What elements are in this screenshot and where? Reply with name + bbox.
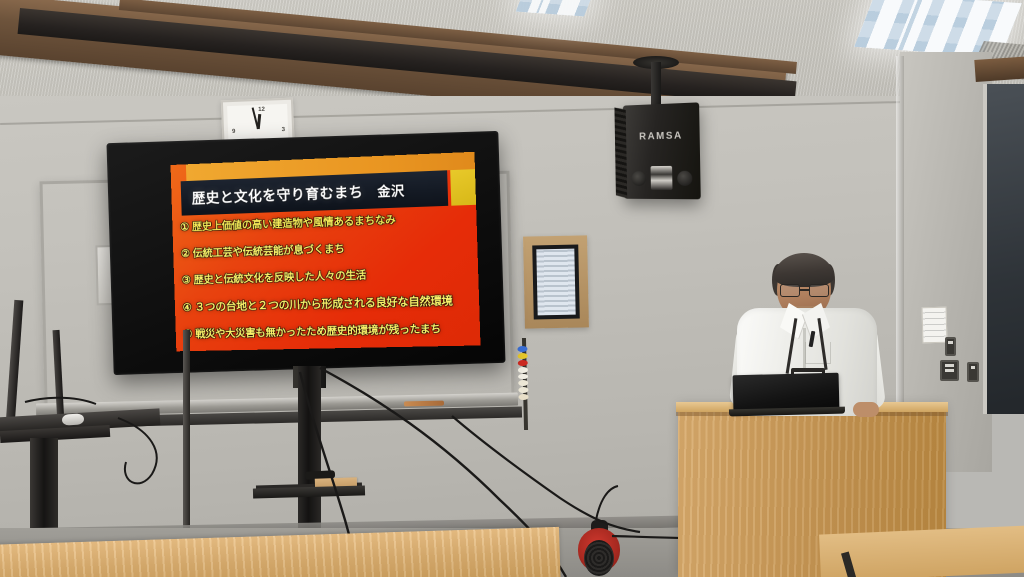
speaker-brand-label: RAMSA — [623, 130, 699, 143]
magnet-8[interactable] — [518, 394, 528, 400]
wall-notice-paper — [922, 307, 948, 344]
speaker-side-fins — [614, 107, 627, 198]
speaker-bolt-right — [677, 170, 692, 185]
speaker-horn — [651, 166, 673, 190]
speaker-bolt-left — [631, 171, 646, 186]
speaker-drivers — [631, 164, 692, 192]
slide-bullet-4: ④３つの台地と２つの川から形成される良好な自然環境 — [182, 292, 475, 315]
cable-reel — [578, 520, 620, 572]
light-switch-plate-1[interactable] — [945, 337, 956, 356]
small-window-frame — [532, 245, 580, 320]
power-outlet-plate[interactable] — [967, 362, 979, 382]
right-window — [983, 84, 1024, 414]
photo-scene: 12 3 6 9 RAMSA — [0, 0, 1024, 577]
slide-title-place: 金沢 — [377, 180, 405, 200]
small-window — [523, 235, 589, 328]
slide-title: 歴史と文化を守り育むまち — [191, 181, 363, 208]
magnet-1[interactable] — [517, 346, 527, 352]
slide: 歴史と文化を守り育むまち 金沢 ①歴史上価値の高い建造物や風情あるまちなみ②伝統… — [171, 152, 481, 352]
slide-bullet-2: ②伝統工芸や伝統芸能が息づくまち — [181, 237, 474, 261]
magnet-4[interactable] — [518, 367, 528, 373]
presenter-hair — [774, 253, 834, 287]
slide-bullet-number-3: ③ — [182, 274, 191, 286]
slide-bullet-number-1: ① — [180, 221, 189, 233]
display-screen: 歴史と文化を守り育むまち 金沢 ①歴史上価値の高い建造物や風情あるまちなみ②伝統… — [171, 152, 481, 352]
presentation-display: 歴史と文化を守り育むまち 金沢 ①歴史上価値の高い建造物や風情あるまちなみ②伝統… — [106, 131, 505, 375]
slide-bullet-text-1: 歴史上価値の高い建造物や風情あるまちなみ — [192, 212, 396, 234]
magnet-strip — [517, 346, 529, 400]
display-stand-column — [298, 366, 321, 546]
presenter-glasses — [779, 284, 830, 297]
window-header-trim — [974, 56, 1024, 82]
cable-reel-drum — [578, 528, 620, 572]
clock-number-12: 12 — [258, 107, 265, 113]
ceiling-speaker: RAMSA — [623, 102, 701, 199]
whiteboard-marker — [404, 401, 444, 407]
slide-bullet-text-3: 歴史と伝統文化を反映した人々の生活 — [193, 267, 366, 287]
clock-number-3: 3 — [282, 127, 286, 133]
slide-bullet-3: ③歴史と伝統文化を反映した人々の生活 — [182, 264, 475, 287]
speaker-mount-pole — [651, 62, 661, 108]
slide-bullet-list: ①歴史上価値の高い建造物や風情あるまちなみ②伝統工芸や伝統芸能が息づくまち③歴史… — [180, 207, 476, 347]
clock-hour-hand — [257, 114, 261, 129]
magnet-5[interactable] — [518, 373, 528, 379]
magnet-6[interactable] — [518, 380, 528, 386]
light-switch-plate-2[interactable] — [940, 360, 959, 381]
cable-reel-cord — [584, 540, 614, 576]
magnet-3[interactable] — [518, 360, 528, 366]
slide-bullet-number-4: ④ — [183, 302, 192, 314]
slide-bullet-text-4: ３つの台地と２つの川から形成される良好な自然環境 — [194, 292, 453, 314]
clock-number-9: 9 — [232, 129, 236, 135]
slide-bullet-text-2: 伝統工芸や伝統芸能が息づくまち — [193, 241, 345, 261]
magnet-7[interactable] — [518, 387, 528, 393]
slide-bullet-number-2: ② — [181, 248, 190, 260]
magnet-2[interactable] — [518, 353, 528, 359]
small-window-blinds — [536, 249, 575, 316]
slide-bullet-5: ⑤戦災や大災害も無かったため歴史的環境が残ったまち — [183, 320, 476, 341]
slide-bullet-text-5: 戦災や大災害も無かったため歴史的環境が残ったまち — [195, 321, 441, 341]
presenter-right-hand — [853, 402, 879, 417]
